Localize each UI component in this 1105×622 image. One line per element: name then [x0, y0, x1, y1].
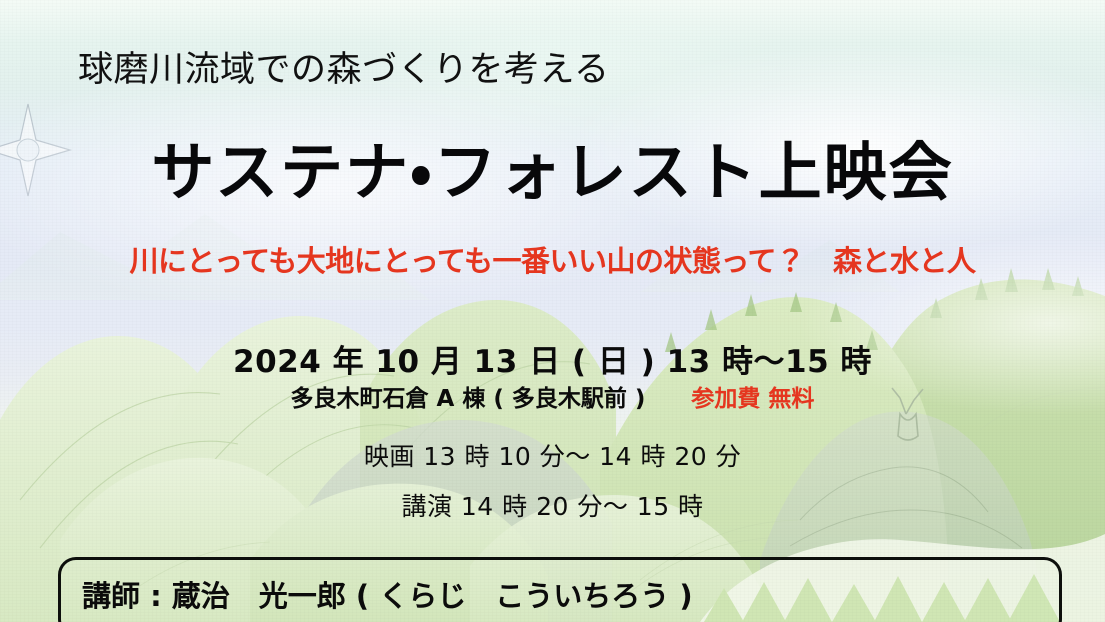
event-venue: 多良木町石倉 A 棟 ( 多良木駅前 ): [291, 379, 646, 413]
subtitle-tagline: 川にとっても大地にとっても一番いい山の状態って？ 森と水と人: [0, 238, 1105, 280]
schedule-item-film: 映画 13 時 10 分〜 14 時 20 分: [0, 437, 1105, 473]
page-title: サステナ・フォレスト上映会: [0, 122, 1105, 213]
program-schedule: 映画 13 時 10 分〜 14 時 20 分 講演 14 時 20 分〜 15…: [0, 437, 1105, 537]
event-date-time: 2024 年 10 月 13 日 ( 日 ) 13 時〜15 時: [0, 336, 1105, 381]
event-poster: 球磨川流域での森づくりを考える サステナ・フォレスト上映会 川にとっても大地にと…: [0, 0, 1105, 622]
schedule-item-lecture: 講演 14 時 20 分〜 15 時: [0, 487, 1105, 523]
venue-and-fee-row: 多良木町石倉 A 棟 ( 多良木駅前 ) 参加費 無料: [0, 379, 1105, 413]
speaker-name: 講師 : 蔵治 光一郎 ( くらじ こういちろう ): [82, 573, 693, 615]
kicker-headline: 球磨川流域での森づくりを考える: [78, 41, 609, 92]
admission-fee-badge: 参加費 無料: [691, 379, 814, 413]
